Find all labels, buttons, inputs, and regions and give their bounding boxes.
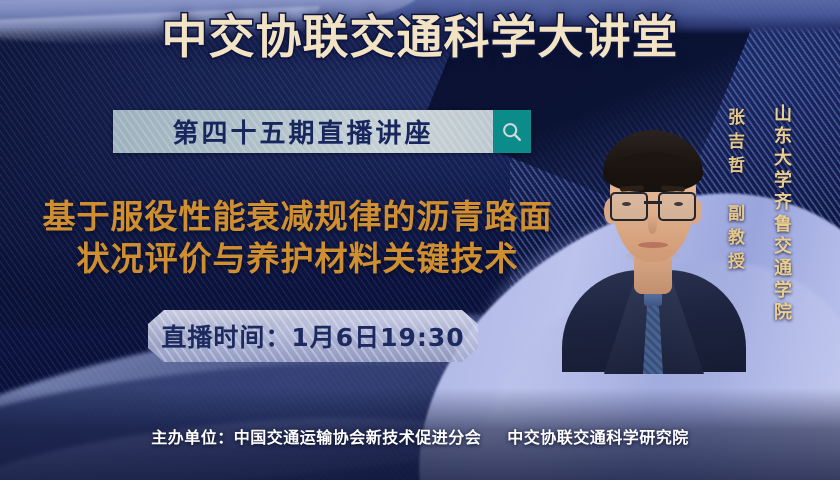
broadcast-time-label: 直播时间：1月6日19:30 (161, 318, 464, 354)
glasses-lens-right (658, 192, 696, 221)
glasses-lens-left (610, 192, 648, 221)
footer-organizers: 主办单位：中国交通运输协会新技术促进分会中交协联交通科学研究院 (0, 424, 840, 448)
search-icon-box[interactable] (493, 110, 531, 153)
portrait-chin (626, 248, 680, 264)
search-icon (501, 121, 523, 143)
footer-organizer-2: 中交协联交通科学研究院 (507, 428, 689, 447)
page-title: 中交协联交通科学大讲堂 (0, 14, 840, 60)
lecture-title-line2: 状况评价与养护材料关键技术 (0, 238, 595, 280)
broadcast-time-pill: 直播时间：1月6日19:30 (148, 310, 478, 362)
episode-banner-bar: 第四十五期直播讲座 (113, 110, 493, 153)
lecture-title: 基于服役性能衰减规律的沥青路面 状况评价与养护材料关键技术 (0, 196, 595, 280)
episode-label: 第四十五期直播讲座 (172, 113, 433, 150)
portrait-nose (648, 214, 657, 234)
footer-organizer-label: 主办单位： (151, 428, 234, 447)
speaker-name-vertical: 张吉哲 副教授 (722, 108, 747, 276)
poster-root: 中交协联交通科学大讲堂 第四十五期直播讲座 基于服役性能衰减规律的沥青路面 状况… (0, 0, 840, 480)
portrait-tie-knot (644, 292, 662, 306)
lecture-title-line1: 基于服役性能衰减规律的沥青路面 (43, 197, 553, 236)
speaker-organization-vertical: 山东大学齐鲁交通学院 (768, 104, 794, 324)
footer-organizer-1: 中国交通运输协会新技术促进分会 (234, 428, 482, 447)
glasses-bridge (644, 201, 662, 204)
episode-banner[interactable]: 第四十五期直播讲座 (113, 110, 531, 153)
